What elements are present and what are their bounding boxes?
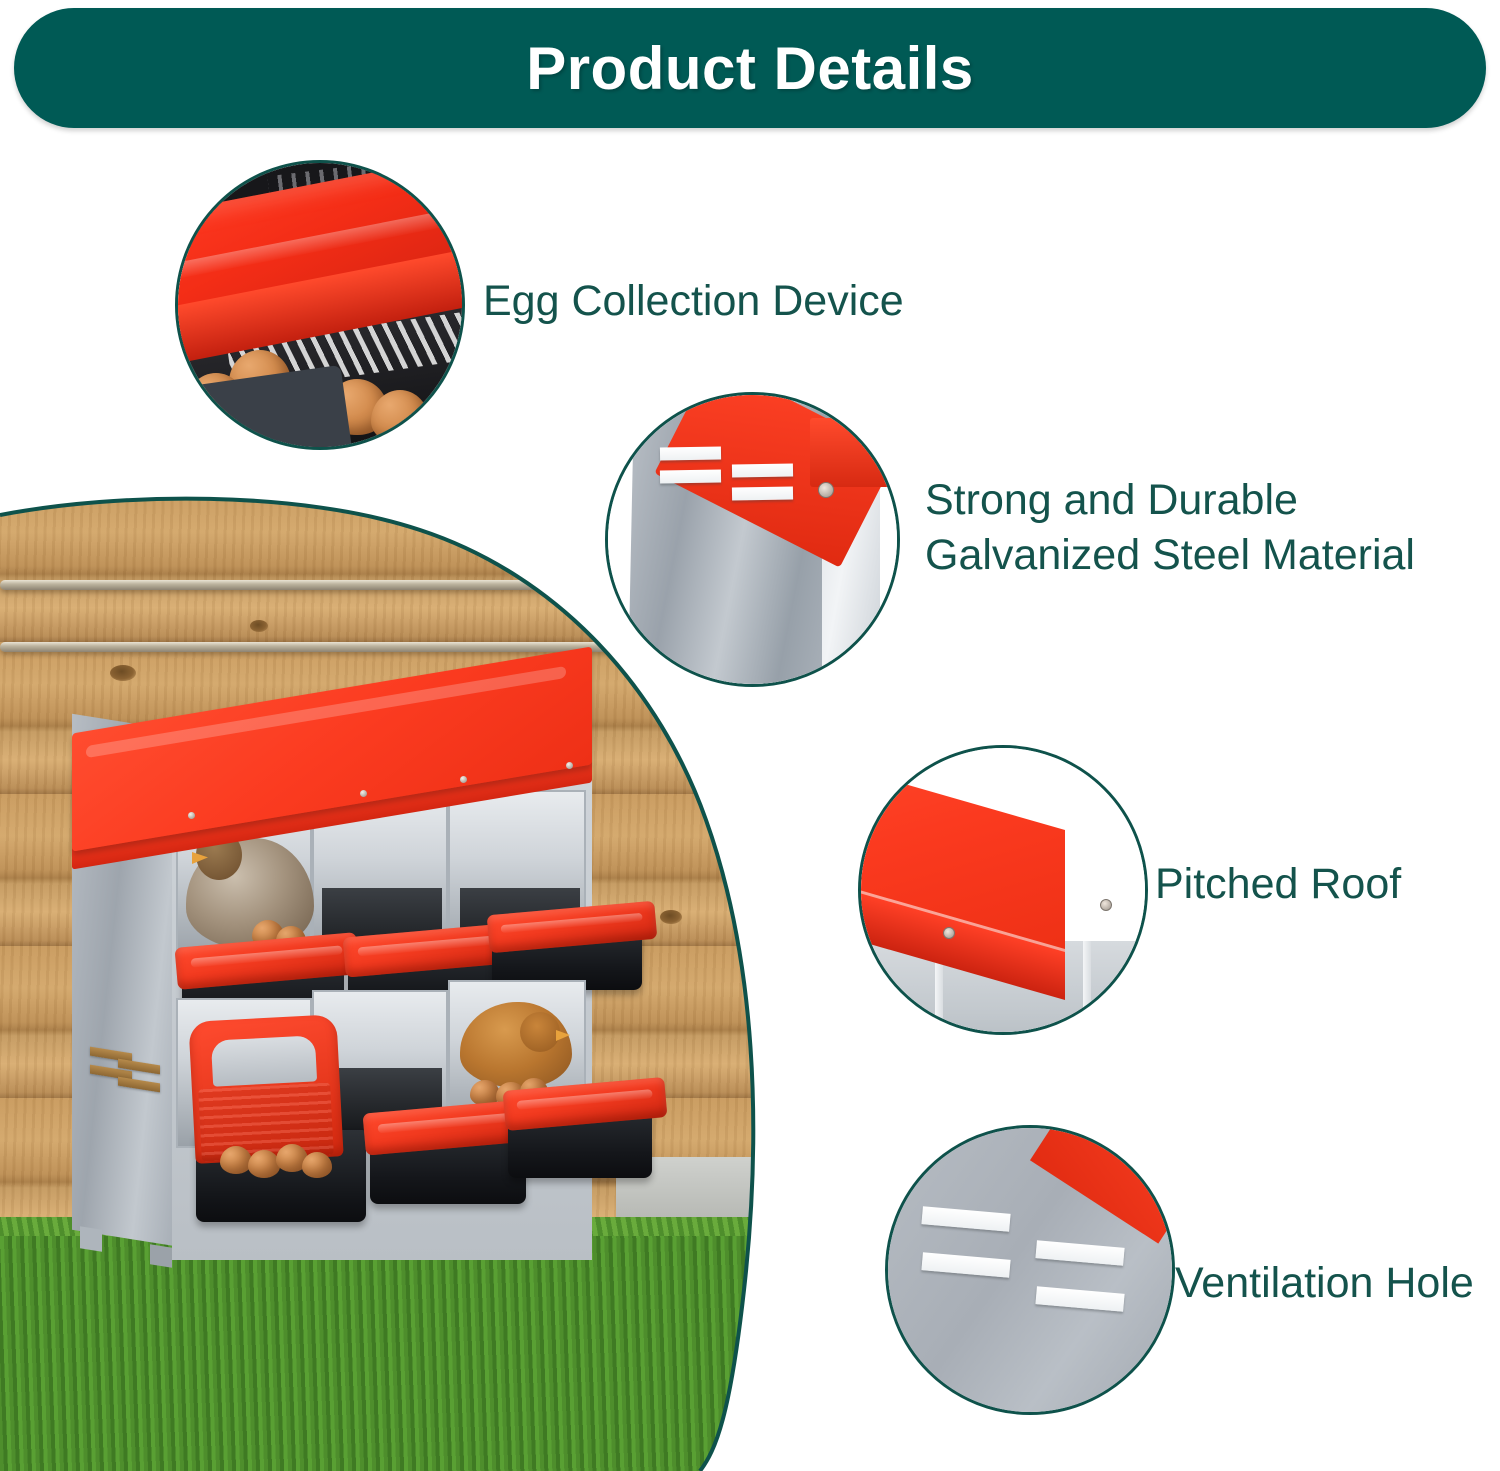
feature-image-galvanized-steel-material: [605, 392, 900, 687]
feature-label-ventilation-hole: Ventilation Hole: [1175, 1256, 1474, 1311]
feature-image-pitched-roof: [858, 745, 1148, 1035]
feature-image-egg-collection-device: [175, 160, 465, 450]
product-details-banner: Product Details: [14, 8, 1486, 128]
egg-tray-icon: [178, 163, 462, 447]
feature-label-egg-collection-device: Egg Collection Device: [483, 274, 904, 329]
grass-lawn-foreground: [0, 1236, 790, 1471]
steel-panel-icon: [608, 395, 897, 684]
chicken-head: [520, 1012, 560, 1052]
page-title: Product Details: [526, 34, 974, 103]
feature-label-galvanized-steel-material: Strong and Durable Galvanized Steel Mate…: [925, 473, 1415, 583]
feature-label-pitched-roof: Pitched Roof: [1155, 857, 1401, 912]
ventilation-slots-icon: [888, 1128, 1172, 1412]
pitched-roof-icon: [861, 748, 1145, 1032]
feature-image-ventilation-hole: [885, 1125, 1175, 1415]
